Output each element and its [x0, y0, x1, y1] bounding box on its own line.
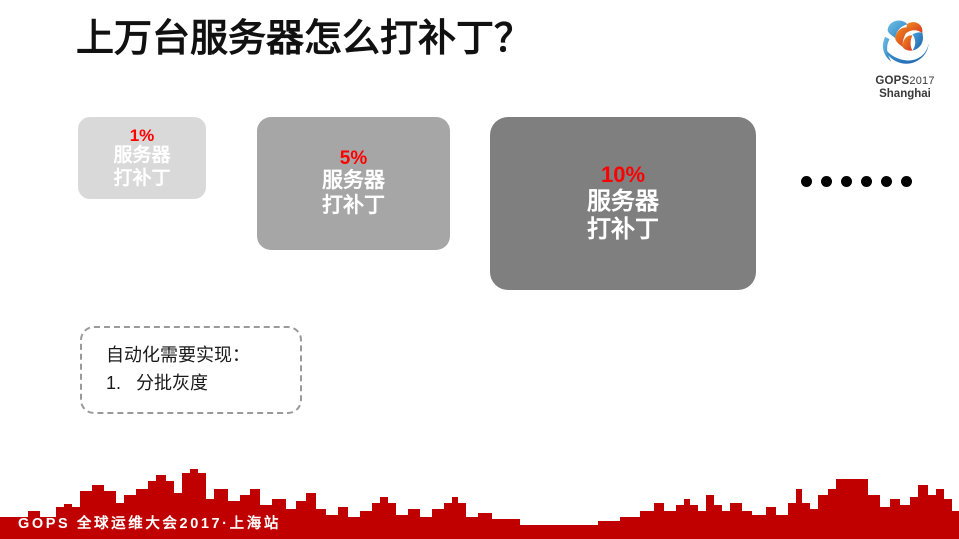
stage-box-1-line2: 打补丁 — [113, 168, 170, 190]
gops-logo: GOPS2017 Shanghai — [858, 12, 952, 104]
gops-swirl-logo-icon — [874, 12, 936, 74]
ellipsis-dot — [801, 176, 812, 187]
stage-box-1-percent: 1% 服务器 打补丁 — [78, 117, 206, 199]
ellipsis-dots — [801, 176, 912, 187]
footer-banner: GOPS 全球运维大会2017·上海站 — [0, 459, 959, 539]
logo-city: Shanghai — [858, 88, 952, 101]
note-item-1-number: 1. — [106, 370, 136, 398]
stage-box-1-line1: 服务器 — [113, 145, 170, 167]
stage-box-2-line2: 打补丁 — [322, 194, 385, 219]
stage-box-3-percent-label: 10% — [601, 163, 645, 188]
note-item-1: 1.分批灰度 — [106, 370, 300, 398]
logo-brand-line: GOPS2017 — [858, 75, 952, 88]
logo-year: 2017 — [909, 75, 934, 87]
footer-banner-text: GOPS 全球运维大会2017·上海站 — [18, 512, 281, 533]
ellipsis-dot — [901, 176, 912, 187]
automation-note-box: 自动化需要实现： 1.分批灰度 — [80, 326, 302, 414]
ellipsis-dot — [861, 176, 872, 187]
stage-box-2-line1: 服务器 — [322, 169, 385, 194]
ellipsis-dot — [841, 176, 852, 187]
logo-wordmark: GOPS2017 Shanghai — [858, 75, 952, 101]
stage-box-1-percent-label: 1% — [130, 126, 155, 145]
ellipsis-dot — [821, 176, 832, 187]
ellipsis-dot — [881, 176, 892, 187]
stage-box-3-line1: 服务器 — [587, 188, 659, 216]
stage-box-3-line2: 打补丁 — [587, 216, 659, 244]
logo-brand: GOPS — [875, 75, 909, 87]
stage-box-3-percent: 10% 服务器 打补丁 — [490, 117, 756, 290]
note-heading: 自动化需要实现： — [106, 342, 300, 370]
stage-box-2-percent-label: 5% — [340, 148, 367, 169]
page-title: 上万台服务器怎么打补丁？ — [76, 16, 532, 64]
note-item-1-text: 分批灰度 — [136, 373, 208, 393]
stage-box-2-percent: 5% 服务器 打补丁 — [257, 117, 450, 250]
slide-canvas: 上万台服务器怎么打补丁？ — [0, 0, 959, 539]
